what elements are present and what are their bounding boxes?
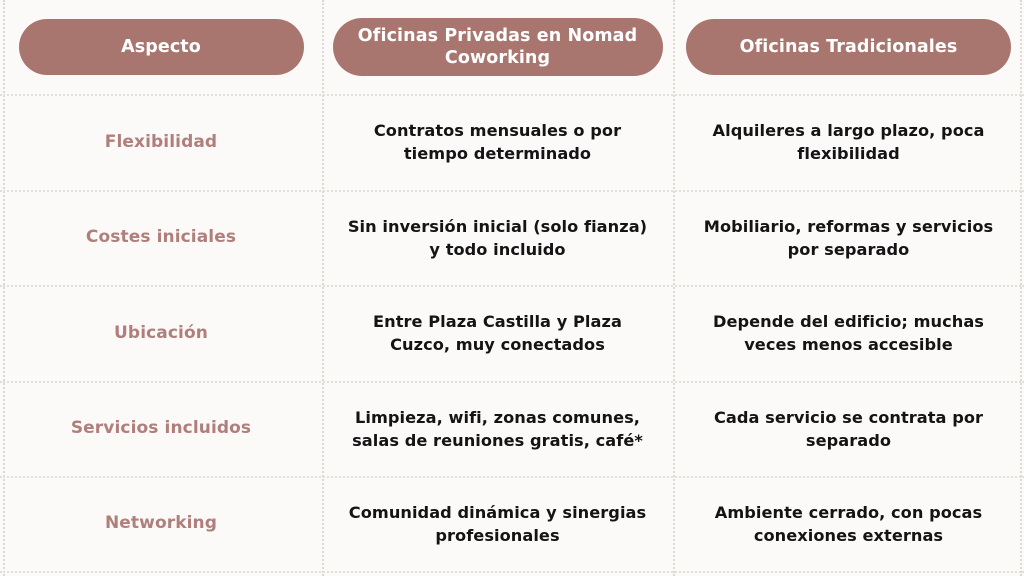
table-row: Ubicación Entre Plaza Castilla y Plaza C… <box>0 285 1024 381</box>
row-nomad-text: Sin inversión inicial (solo fianza) y to… <box>344 215 651 261</box>
row-nomad-cell: Limpieza, wifi, zonas comunes, salas de … <box>322 381 673 476</box>
row-traditional-cell: Mobiliario, reformas y servicios por sep… <box>673 190 1024 285</box>
row-aspect-label: Costes iniciales <box>86 226 236 248</box>
comparison-table: Aspecto Oficinas Privadas en Nomad Cowor… <box>0 0 1024 576</box>
row-divider-5 <box>0 571 1024 573</box>
row-nomad-text: Entre Plaza Castilla y Plaza Cuzco, muy … <box>344 310 651 356</box>
row-aspect-cell: Servicios incluidos <box>0 381 322 476</box>
row-aspect-label: Servicios incluidos <box>71 417 251 439</box>
table-row: Flexibilidad Contratos mensuales o por t… <box>0 94 1024 190</box>
row-nomad-cell: Entre Plaza Castilla y Plaza Cuzco, muy … <box>322 285 673 381</box>
row-aspect-cell: Costes iniciales <box>0 190 322 285</box>
header-pill-aspect: Aspecto <box>19 19 304 75</box>
row-traditional-cell: Cada servicio se contrata por separado <box>673 381 1024 476</box>
row-aspect-label: Networking <box>105 512 217 534</box>
row-traditional-cell: Ambiente cerrado, con pocas conexiones e… <box>673 476 1024 571</box>
row-aspect-cell: Networking <box>0 476 322 571</box>
row-traditional-cell: Depende del edificio; muchas veces menos… <box>673 285 1024 381</box>
row-nomad-cell: Comunidad dinámica y sinergias profesion… <box>322 476 673 571</box>
header-cell-nomad: Oficinas Privadas en Nomad Coworking <box>322 0 673 94</box>
header-pill-traditional: Oficinas Tradicionales <box>686 19 1011 75</box>
row-traditional-text: Alquileres a largo plazo, poca flexibili… <box>695 119 1002 165</box>
row-traditional-text: Depende del edificio; muchas veces menos… <box>695 310 1002 356</box>
table-header-row: Aspecto Oficinas Privadas en Nomad Cowor… <box>0 0 1024 94</box>
row-traditional-text: Ambiente cerrado, con pocas conexiones e… <box>695 501 1002 547</box>
header-pill-nomad: Oficinas Privadas en Nomad Coworking <box>333 18 663 76</box>
row-aspect-label: Ubicación <box>114 322 208 344</box>
header-label-aspect: Aspecto <box>121 36 201 58</box>
row-aspect-label: Flexibilidad <box>105 131 217 153</box>
row-nomad-text: Contratos mensuales o por tiempo determi… <box>344 119 651 165</box>
row-traditional-text: Mobiliario, reformas y servicios por sep… <box>695 215 1002 261</box>
row-aspect-cell: Ubicación <box>0 285 322 381</box>
header-label-nomad: Oficinas Privadas en Nomad Coworking <box>347 25 649 70</box>
header-cell-traditional: Oficinas Tradicionales <box>673 0 1024 94</box>
header-cell-aspect: Aspecto <box>0 0 322 94</box>
row-nomad-text: Limpieza, wifi, zonas comunes, salas de … <box>344 406 651 452</box>
table-row: Servicios incluidos Limpieza, wifi, zona… <box>0 381 1024 476</box>
row-aspect-cell: Flexibilidad <box>0 94 322 190</box>
header-label-traditional: Oficinas Tradicionales <box>740 36 958 58</box>
row-nomad-cell: Sin inversión inicial (solo fianza) y to… <box>322 190 673 285</box>
table-row: Costes iniciales Sin inversión inicial (… <box>0 190 1024 285</box>
table-row: Networking Comunidad dinámica y sinergia… <box>0 476 1024 571</box>
row-traditional-text: Cada servicio se contrata por separado <box>695 406 1002 452</box>
row-traditional-cell: Alquileres a largo plazo, poca flexibili… <box>673 94 1024 190</box>
row-nomad-text: Comunidad dinámica y sinergias profesion… <box>344 501 651 547</box>
row-nomad-cell: Contratos mensuales o por tiempo determi… <box>322 94 673 190</box>
